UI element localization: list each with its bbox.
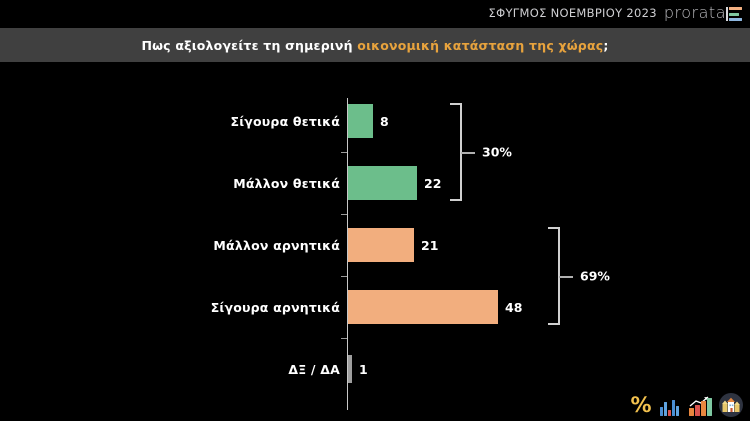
question-banner: Πως αξιολογείτε τη σημερινή οικονομική κ… <box>0 28 750 62</box>
bar-value-label: 1 <box>359 346 368 392</box>
house-glyph-icon <box>722 397 740 413</box>
logo-bar-3 <box>729 18 742 21</box>
bracket-total-label: 69% <box>580 269 610 284</box>
axis-tick <box>341 214 347 215</box>
question-text: Πως αξιολογείτε τη σημερινή οικονομική κ… <box>141 38 608 53</box>
data-bar <box>348 104 373 138</box>
bar-value-label: 8 <box>380 98 389 144</box>
bar-row: ΔΞ / ΔΑ1 <box>0 346 750 392</box>
trend-up-chart-icon <box>688 395 712 417</box>
axis-tick <box>341 338 347 339</box>
trend-icon-bar-1 <box>689 408 694 416</box>
bar-chart-icon-bar-4 <box>672 400 675 416</box>
bracket-total-label: 30% <box>482 145 512 160</box>
axis-tick <box>341 276 347 277</box>
bar-row: Μάλλον θετικά22 <box>0 160 750 206</box>
bracket-cap-bottom <box>548 323 559 325</box>
data-bar <box>348 290 498 324</box>
question-text-highlight: οικονομική κατάσταση της χώρας <box>357 38 603 53</box>
category-label: ΔΞ / ΔΑ <box>100 346 340 392</box>
category-label: Μάλλον θετικά <box>100 160 340 206</box>
bar-value-label: 22 <box>424 160 441 206</box>
question-text-tail: ; <box>603 38 608 53</box>
bar-chart-icon-bar-2 <box>664 402 667 416</box>
data-bar <box>348 228 414 262</box>
top-branding-strip: ΣΦΥΓΜΟΣ ΝΟΕΜΒΡΙΟΥ 2023 prorata <box>0 0 750 28</box>
trend-icon-bar-3 <box>701 401 706 416</box>
bar-chart-icon-bar-1 <box>660 407 663 416</box>
percent-icon: % <box>630 395 652 417</box>
bar-row: Σίγουρα θετικά8 <box>0 98 750 144</box>
house-economy-icon <box>719 393 743 417</box>
bar-chart-icon-bar-5 <box>676 406 679 416</box>
bracket-cap-top <box>548 227 559 229</box>
footer-icon-strip: % <box>630 393 743 417</box>
prorata-wordmark: prorata <box>664 5 726 21</box>
axis-tick <box>341 152 347 153</box>
data-bar <box>348 166 417 200</box>
bar-row: Μάλλον αρνητικά21 <box>0 222 750 268</box>
bar-row: Σίγουρα αρνητικά48 <box>0 284 750 330</box>
percent-glyph: % <box>630 395 652 417</box>
category-label: Σίγουρα αρνητικά <box>100 284 340 330</box>
poll-chart-slide: ΣΦΥΓΜΟΣ ΝΟΕΜΒΡΙΟΥ 2023 prorata Πως αξιολ… <box>0 0 750 421</box>
bracket-stub <box>559 276 573 278</box>
prorata-logo: prorata <box>664 5 742 21</box>
data-bar <box>348 355 352 383</box>
brand-block: ΣΦΥΓΜΟΣ ΝΟΕΜΒΡΙΟΥ 2023 prorata <box>489 5 742 21</box>
question-text-plain: Πως αξιολογείτε τη σημερινή <box>141 38 357 53</box>
poll-wave-label: ΣΦΥΓΜΟΣ ΝΟΕΜΒΡΙΟΥ 2023 <box>489 6 657 20</box>
chart-plot-area: Σίγουρα θετικά8Μάλλον θετικά22Μάλλον αρν… <box>0 62 750 421</box>
logo-stem <box>726 7 728 21</box>
category-label: Σίγουρα θετικά <box>100 98 340 144</box>
bar-chart-icon <box>659 395 681 417</box>
bracket-cap-bottom <box>450 199 461 201</box>
trend-icon-bar-2 <box>695 405 700 416</box>
trend-icon-bar-4 <box>707 398 712 416</box>
bracket-stub <box>461 152 475 154</box>
logo-bar-1 <box>729 7 742 10</box>
bar-value-label: 21 <box>421 222 438 268</box>
logo-bar-2 <box>729 13 739 16</box>
bracket-cap-top <box>450 103 461 105</box>
prorata-bars-logo-icon <box>729 7 742 21</box>
category-label: Μάλλον αρνητικά <box>100 222 340 268</box>
bar-value-label: 48 <box>505 284 522 330</box>
bar-chart-icon-bar-3 <box>668 410 671 416</box>
